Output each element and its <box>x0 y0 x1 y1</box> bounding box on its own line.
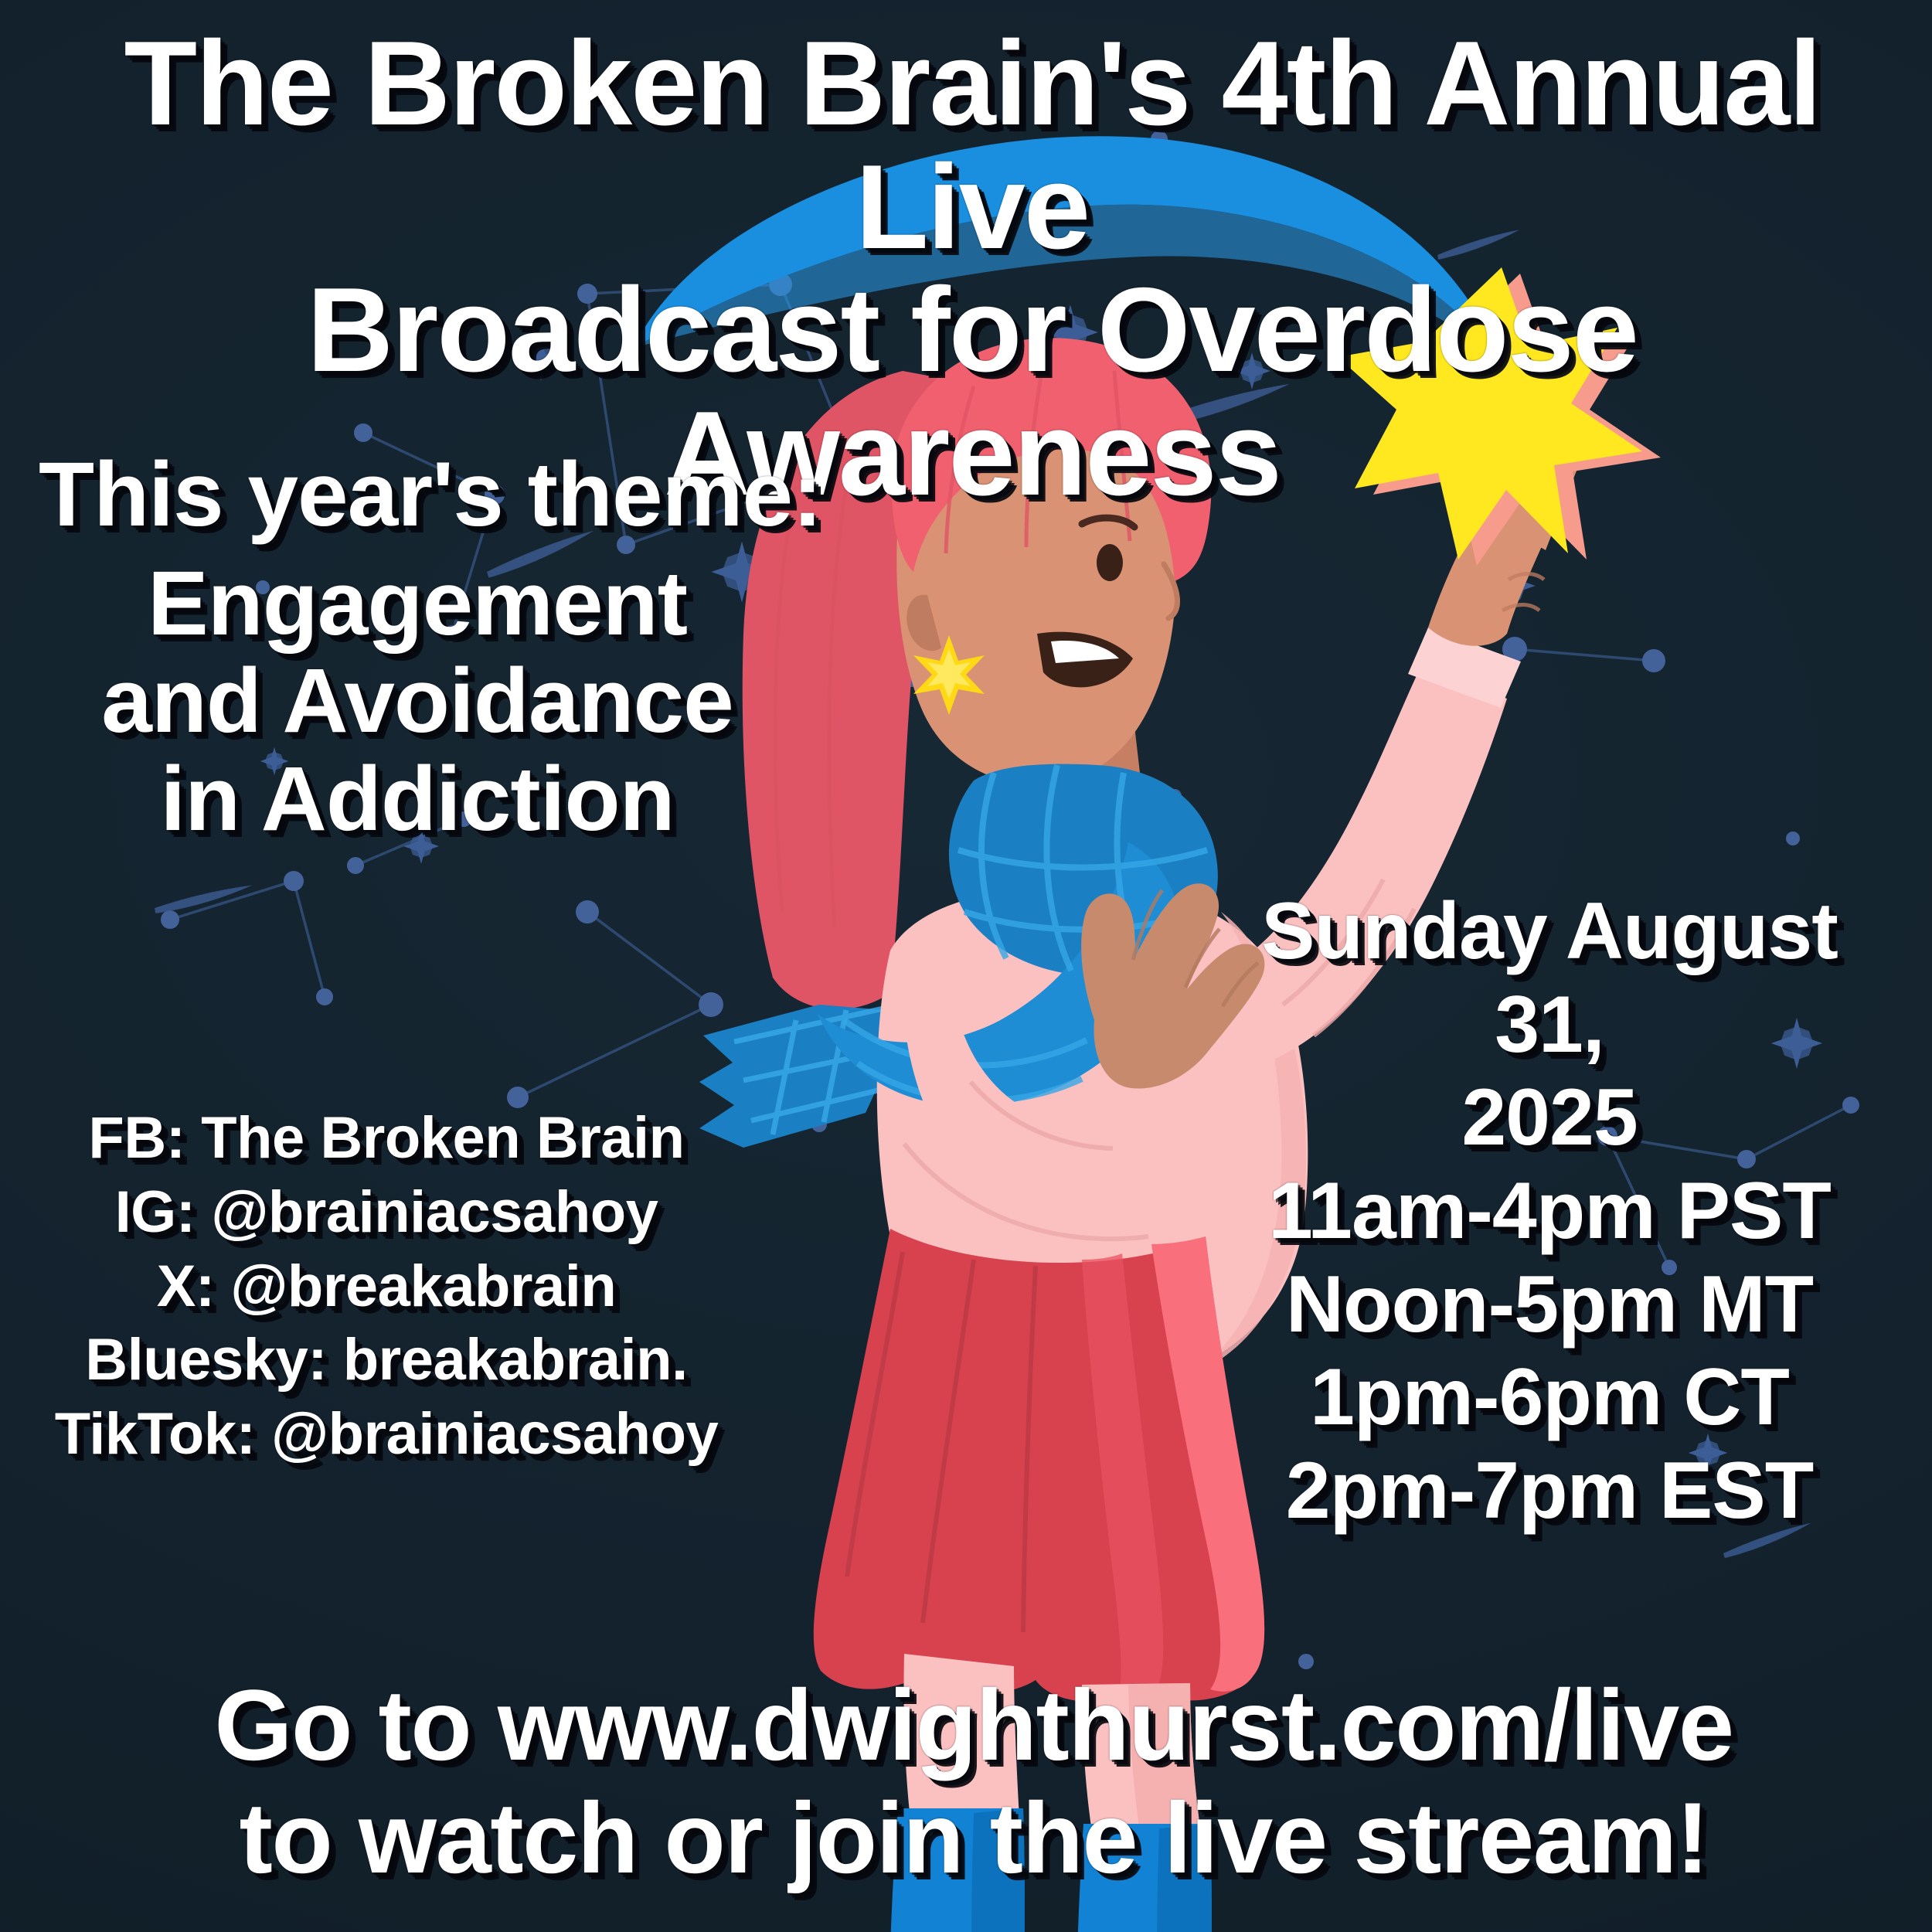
theme-intro-label: This year's theme: <box>39 448 821 541</box>
event-datetime-block: Sunday August 31, 2025 11am-4pm PST Noon… <box>1202 885 1897 1537</box>
poster-canvas: The Broken Brain's 4th Annual Live Broad… <box>0 0 1932 1932</box>
page-title: The Broken Brain's 4th Annual Live Broad… <box>68 22 1876 515</box>
call-to-action-text: Go to www.dwighthurst.com/live to watch … <box>93 1669 1855 1894</box>
theme-body-text: Engagement and Avoidance in Addiction <box>46 555 788 848</box>
social-handles-list: FB: The Broken Brain IG: @brainiacsahoy … <box>43 1101 730 1471</box>
